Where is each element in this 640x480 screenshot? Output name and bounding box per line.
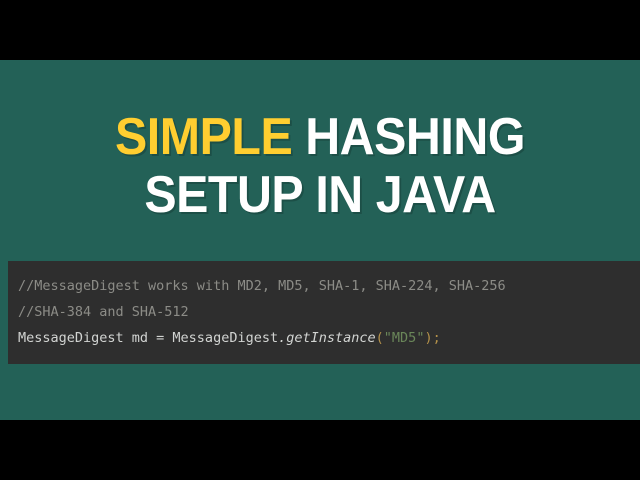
code-line-statement: MessageDigest md = MessageDigest.getInst… — [18, 325, 640, 351]
code-close-paren: ) — [424, 330, 432, 346]
video-thumbnail-slide: SIMPLE HASHING SETUP IN JAVA //MessageDi… — [0, 0, 640, 480]
code-line-comment-1: //MessageDigest works with MD2, MD5, SHA… — [18, 273, 640, 299]
code-semicolon: ; — [433, 330, 441, 346]
title-line-2: SETUP IN JAVA — [22, 166, 617, 224]
title-line-1: SIMPLE HASHING — [22, 108, 617, 166]
code-open-paren: ( — [376, 330, 384, 346]
code-string-literal: MD5 — [392, 330, 416, 346]
code-snippet-panel: //MessageDigest works with MD2, MD5, SHA… — [8, 261, 640, 364]
letterbox-bar-bottom — [0, 420, 640, 480]
code-comment-text: //SHA-384 and SHA-512 — [18, 304, 189, 320]
title-line-1-rest: HASHING — [292, 108, 525, 166]
code-method-call: .getInstance — [278, 330, 376, 346]
title-accent-word: SIMPLE — [115, 108, 292, 166]
code-quote-open: " — [384, 330, 392, 346]
code-line-comment-2: //SHA-384 and SHA-512 — [18, 299, 640, 325]
letterbox-bar-top — [0, 0, 640, 60]
code-declaration: MessageDigest md = MessageDigest — [18, 330, 278, 346]
slide-stage: SIMPLE HASHING SETUP IN JAVA //MessageDi… — [0, 60, 640, 420]
code-comment-text: //MessageDigest works with MD2, MD5, SHA… — [18, 278, 506, 294]
page-title: SIMPLE HASHING SETUP IN JAVA — [0, 108, 640, 224]
